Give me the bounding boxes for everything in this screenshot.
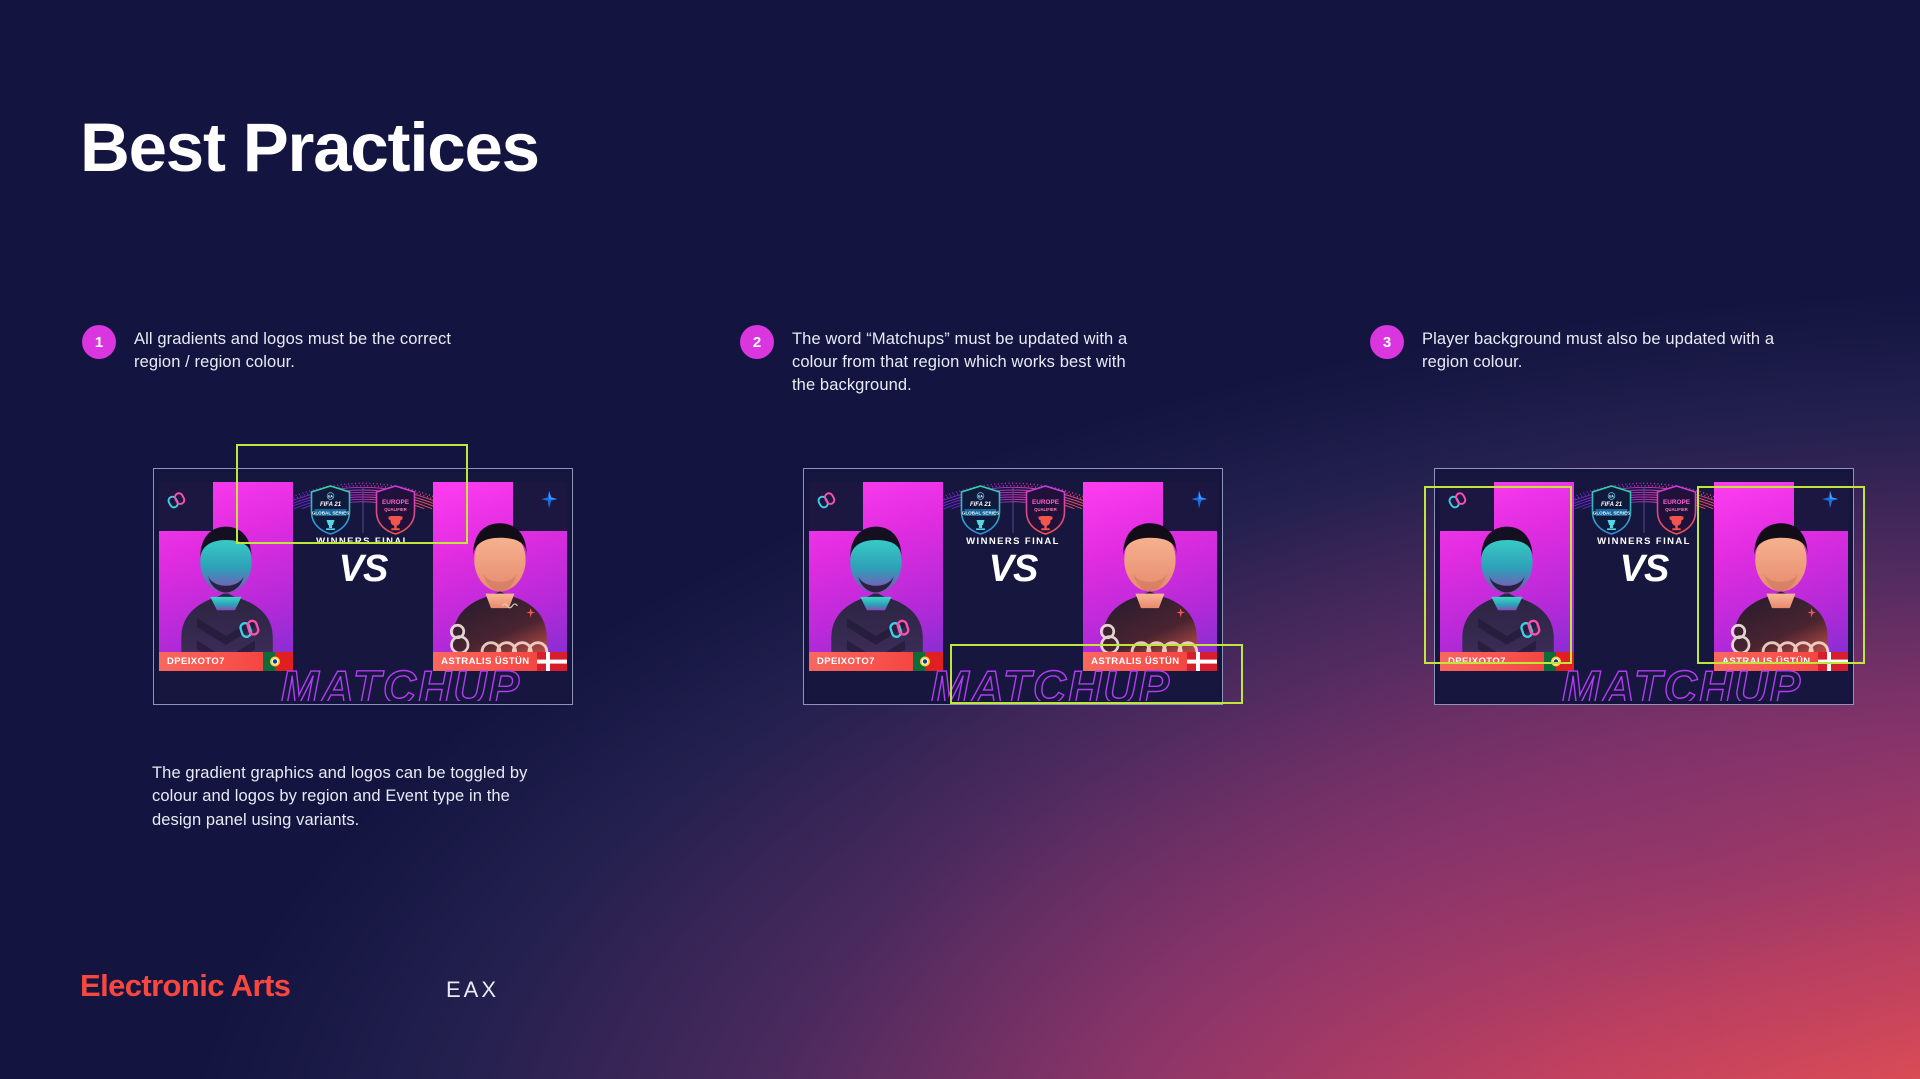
note-item-2: 2 The word “Matchups” must be updated wi…: [740, 328, 1152, 396]
note-item-3: 3 Player background must also be updated…: [1370, 328, 1782, 374]
fifa-global-series-badge-icon: EA FIFA 21 GLOBAL SERIES: [308, 484, 354, 536]
player-name-left: DPEIXOTO7: [159, 656, 225, 667]
svg-text:FIFA 21: FIFA 21: [970, 502, 992, 508]
matchup-card-frame: EA FIFA 21 GLOBAL SERIES EUROPE QUALIFIE…: [803, 468, 1223, 705]
event-badges: EA FIFA 21 GLOBAL SERIES EUROPE QUA: [308, 484, 419, 536]
player-name-left: DPEIXOTO7: [1440, 656, 1506, 667]
caption-text: The gradient graphics and logos can be t…: [152, 762, 532, 832]
svg-text:QUALIFIER: QUALIFIER: [384, 507, 407, 512]
matchup-card-3: EA FIFA 21 GLOBAL SERIES EUROPE QUALIFIE…: [1434, 468, 1854, 705]
vs-label: VS: [272, 550, 453, 588]
note-text-3: Player background must also be updated w…: [1422, 328, 1782, 374]
matchup-wordmark: MATCHUP: [931, 664, 1219, 701]
svg-text:EUROPE: EUROPE: [1663, 499, 1691, 506]
matchup-wordmark: MATCHUP: [1562, 664, 1850, 701]
player-photo-right: [433, 482, 567, 671]
eax-logo: EAX: [446, 977, 499, 1003]
svg-text:GLOBAL SERIES: GLOBAL SERIES: [312, 510, 349, 515]
player-panel-left: DPEIXOTO7: [809, 482, 943, 671]
player-name-bar-left: DPEIXOTO7: [809, 652, 943, 671]
svg-text:GLOBAL SERIES: GLOBAL SERIES: [962, 510, 999, 515]
player-photo-left: [809, 482, 943, 671]
match-center-column: WINNERS FINAL VS: [272, 536, 453, 588]
event-badges: EA FIFA 21 GLOBAL SERIES EUROPE QUALIFIE…: [1589, 484, 1700, 536]
badge-divider: [1644, 487, 1645, 533]
europe-qualifier-badge-icon: EUROPE QUALIFIER: [373, 484, 419, 536]
matchup-card-2: EA FIFA 21 GLOBAL SERIES EUROPE QUALIFIE…: [803, 468, 1223, 705]
round-label: WINNERS FINAL: [1553, 536, 1734, 547]
player-panel-right: ASTRALIS ÜSTÜN: [1714, 482, 1848, 671]
svg-text:GLOBAL SERIES: GLOBAL SERIES: [1593, 510, 1630, 515]
page-title: Best Practices: [80, 108, 539, 187]
player-photo-left: [1440, 482, 1574, 671]
player-photo-right: [1714, 482, 1848, 671]
round-label: WINNERS FINAL: [272, 536, 453, 547]
europe-qualifier-badge-icon: EUROPE QUALIFIER: [1654, 484, 1700, 536]
svg-text:FIFA 21: FIFA 21: [320, 502, 342, 508]
matchup-card-frame: EA FIFA 21 GLOBAL SERIES EUROPE QUA: [153, 468, 573, 705]
player-photo-right: [1083, 482, 1217, 671]
match-center-column: WINNERS FINAL VS: [922, 536, 1103, 588]
svg-text:EA: EA: [1609, 495, 1614, 499]
player-name-bar-left: DPEIXOTO7: [1440, 652, 1574, 671]
matchup-wordmark: MATCHUP: [281, 664, 569, 701]
player-panel-right: ASTRALIS ÜSTÜN: [433, 482, 567, 671]
electronic-arts-logo: Electronic Arts: [80, 968, 290, 1004]
player-name-left: DPEIXOTO7: [809, 656, 875, 667]
matchup-card-body: EA FIFA 21 GLOBAL SERIES EUROPE QUA: [157, 472, 569, 701]
europe-qualifier-badge-icon: EUROPE QUALIFIER: [1023, 484, 1069, 536]
svg-text:FIFA 21: FIFA 21: [1601, 502, 1623, 508]
fifa-global-series-badge-icon: EA FIFA 21 GLOBAL SERIES: [958, 484, 1004, 536]
event-badges: EA FIFA 21 GLOBAL SERIES EUROPE QUALIFIE…: [958, 484, 1069, 536]
matchup-card-frame: EA FIFA 21 GLOBAL SERIES EUROPE QUALIFIE…: [1434, 468, 1854, 705]
svg-text:EA: EA: [328, 495, 333, 499]
svg-text:EUROPE: EUROPE: [382, 499, 410, 506]
note-number-badge-1: 1: [82, 325, 116, 359]
player-panel-right: ASTRALIS ÜSTÜN: [1083, 482, 1217, 671]
player-photo-left: [159, 482, 293, 671]
matchup-card-body: EA FIFA 21 GLOBAL SERIES EUROPE QUALIFIE…: [1438, 472, 1850, 701]
player-panel-left: DPEIXOTO7: [1440, 482, 1574, 671]
badge-divider: [363, 487, 364, 533]
badge-divider: [1013, 487, 1014, 533]
player-name-bar-left: DPEIXOTO7: [159, 652, 293, 671]
fifa-global-series-badge-icon: EA FIFA 21 GLOBAL SERIES: [1589, 484, 1635, 536]
note-number-badge-2: 2: [740, 325, 774, 359]
note-text-1: All gradients and logos must be the corr…: [134, 328, 494, 374]
svg-text:EUROPE: EUROPE: [1032, 499, 1060, 506]
note-item-1: 1 All gradients and logos must be the co…: [82, 328, 494, 374]
svg-text:QUALIFIER: QUALIFIER: [1665, 507, 1688, 512]
vs-label: VS: [922, 550, 1103, 588]
matchup-card-1: EA FIFA 21 GLOBAL SERIES EUROPE QUA: [153, 468, 573, 705]
round-label: WINNERS FINAL: [922, 536, 1103, 547]
player-panel-left: DPEIXOTO7: [159, 482, 293, 671]
vs-label: VS: [1553, 550, 1734, 588]
svg-text:QUALIFIER: QUALIFIER: [1034, 507, 1057, 512]
note-number-badge-3: 3: [1370, 325, 1404, 359]
matchup-card-body: EA FIFA 21 GLOBAL SERIES EUROPE QUALIFIE…: [807, 472, 1219, 701]
note-text-2: The word “Matchups” must be updated with…: [792, 328, 1152, 396]
svg-text:EA: EA: [978, 495, 983, 499]
match-center-column: WINNERS FINAL VS: [1553, 536, 1734, 588]
